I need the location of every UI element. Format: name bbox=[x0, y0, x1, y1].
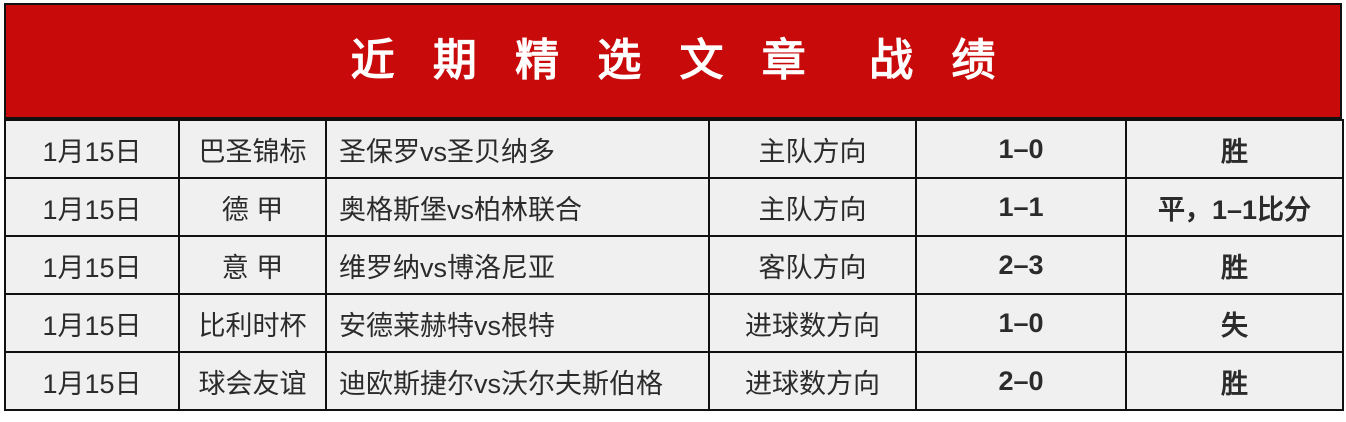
cell-date: 1月15日 bbox=[5, 294, 179, 352]
cell-league: 意 甲 bbox=[179, 236, 326, 294]
cell-result: 胜 bbox=[1126, 120, 1343, 178]
cell-score: 1–1 bbox=[916, 178, 1126, 236]
cell-match: 安德莱赫特vs根特 bbox=[326, 294, 709, 352]
cell-direction: 进球数方向 bbox=[709, 352, 916, 410]
table-row: 1月15日 德 甲 奥格斯堡vs柏林联合 主队方向 1–1 平，1–1比分 bbox=[5, 178, 1343, 236]
table-row: 1月15日 意 甲 维罗纳vs博洛尼亚 客队方向 2–3 胜 bbox=[5, 236, 1343, 294]
cell-match: 奥格斯堡vs柏林联合 bbox=[326, 178, 709, 236]
cell-date: 1月15日 bbox=[5, 352, 179, 410]
cell-direction: 客队方向 bbox=[709, 236, 916, 294]
page-title: 近 期 精 选 文 章 战 绩 bbox=[338, 39, 1009, 83]
cell-date: 1月15日 bbox=[5, 178, 179, 236]
cell-league: 球会友谊 bbox=[179, 352, 326, 410]
table-row: 1月15日 比利时杯 安德莱赫特vs根特 进球数方向 1–0 失 bbox=[5, 294, 1343, 352]
cell-direction: 进球数方向 bbox=[709, 294, 916, 352]
cell-result: 失 bbox=[1126, 294, 1343, 352]
cell-match: 圣保罗vs圣贝纳多 bbox=[326, 120, 709, 178]
cell-result: 胜 bbox=[1126, 352, 1343, 410]
cell-score: 2–0 bbox=[916, 352, 1126, 410]
cell-score: 2–3 bbox=[916, 236, 1126, 294]
cell-league: 德 甲 bbox=[179, 178, 326, 236]
cell-direction: 主队方向 bbox=[709, 120, 916, 178]
table-row: 1月15日 巴圣锦标 圣保罗vs圣贝纳多 主队方向 1–0 胜 bbox=[5, 120, 1343, 178]
results-sheet: 近 期 精 选 文 章 战 绩 1月15日 巴圣锦标 圣保罗vs圣贝纳多 主队方… bbox=[0, 0, 1346, 422]
cell-league: 比利时杯 bbox=[179, 294, 326, 352]
cell-result: 胜 bbox=[1126, 236, 1343, 294]
match-results-table: 1月15日 巴圣锦标 圣保罗vs圣贝纳多 主队方向 1–0 胜 1月15日 德 … bbox=[4, 119, 1344, 411]
cell-match: 迪欧斯捷尔vs沃尔夫斯伯格 bbox=[326, 352, 709, 410]
cell-direction: 主队方向 bbox=[709, 178, 916, 236]
cell-league: 巴圣锦标 bbox=[179, 120, 326, 178]
table-row: 1月15日 球会友谊 迪欧斯捷尔vs沃尔夫斯伯格 进球数方向 2–0 胜 bbox=[5, 352, 1343, 410]
cell-result: 平，1–1比分 bbox=[1126, 178, 1343, 236]
cell-date: 1月15日 bbox=[5, 120, 179, 178]
cell-match: 维罗纳vs博洛尼亚 bbox=[326, 236, 709, 294]
header-banner: 近 期 精 选 文 章 战 绩 bbox=[4, 3, 1342, 119]
cell-score: 1–0 bbox=[916, 120, 1126, 178]
cell-date: 1月15日 bbox=[5, 236, 179, 294]
cell-score: 1–0 bbox=[916, 294, 1126, 352]
table-body: 1月15日 巴圣锦标 圣保罗vs圣贝纳多 主队方向 1–0 胜 1月15日 德 … bbox=[5, 120, 1343, 410]
